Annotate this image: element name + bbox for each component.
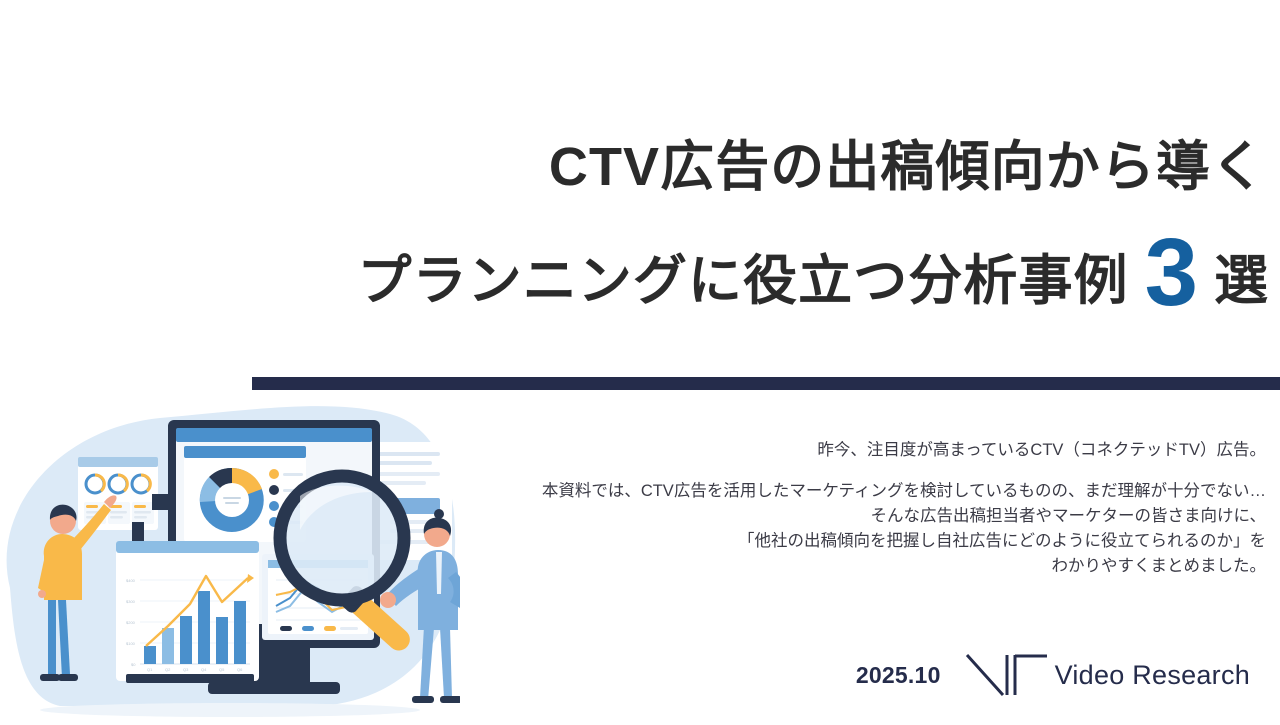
svg-text:$300: $300 xyxy=(126,599,136,604)
vr-monogram-icon xyxy=(963,649,1049,702)
svg-text:Q1: Q1 xyxy=(147,667,153,672)
svg-text:Q2: Q2 xyxy=(165,667,171,672)
svg-text:Q3: Q3 xyxy=(183,667,189,672)
title-line-1: CTV広告の出稿傾向から導く xyxy=(172,135,1272,199)
ground-shadow xyxy=(40,703,420,717)
donut-chart xyxy=(200,468,264,532)
body-copy: 昨今、注目度が高まっているCTV（コネクテッドTV）広告。 本資料では、CTV広… xyxy=(406,438,1266,579)
footer: 2025.10 Video Research xyxy=(856,649,1250,702)
data-analytics-illustration: $400 $300 $200 $100 $0 Q1 Q2 Q3 Q4 xyxy=(0,388,460,720)
title-line-2: プランニングに役立つ分析事例 xyxy=(357,249,1128,313)
svg-text:$100: $100 xyxy=(126,641,136,646)
title-line-2-row: プランニングに役立つ分析事例 3 選 xyxy=(172,235,1272,313)
body-line-1: 昨今、注目度が高まっているCTV（コネクテッドTV）広告。 xyxy=(406,438,1266,463)
svg-text:Q5: Q5 xyxy=(219,667,225,672)
publication-date: 2025.10 xyxy=(856,662,941,689)
connector-block-b xyxy=(132,522,144,544)
connector-block-a xyxy=(152,494,168,510)
title-count-suffix: 選 xyxy=(1214,249,1272,313)
page-title: CTV広告の出稿傾向から導く プランニングに役立つ分析事例 3 選 xyxy=(172,135,1272,313)
gauges-card xyxy=(78,457,158,530)
body-line-3: そんな広告出稿担当者やマーケターの皆さま向けに、 xyxy=(406,504,1266,529)
title-count-number: 3 xyxy=(1145,241,1198,305)
svg-text:Q6: Q6 xyxy=(237,667,243,672)
body-line-2: 本資料では、CTV広告を活用したマーケティングを検討しているものの、まだ理解が十… xyxy=(406,479,1266,504)
svg-text:$0: $0 xyxy=(131,662,136,667)
svg-text:Q4: Q4 xyxy=(201,667,207,672)
body-spacer xyxy=(406,463,1266,479)
brand-lockup: Video Research xyxy=(963,649,1250,702)
bar-chart-card: $400 $300 $200 $100 $0 Q1 Q2 Q3 Q4 xyxy=(116,541,259,683)
svg-text:$400: $400 xyxy=(126,578,136,583)
svg-text:$200: $200 xyxy=(126,620,136,625)
body-line-5: わかりやすくまとめました。 xyxy=(406,554,1266,579)
brand-wordmark: Video Research xyxy=(1055,660,1250,691)
body-line-4: 「他社の出稿傾向を把握し自社広告にどのように役立てられるのか」を xyxy=(406,529,1266,554)
